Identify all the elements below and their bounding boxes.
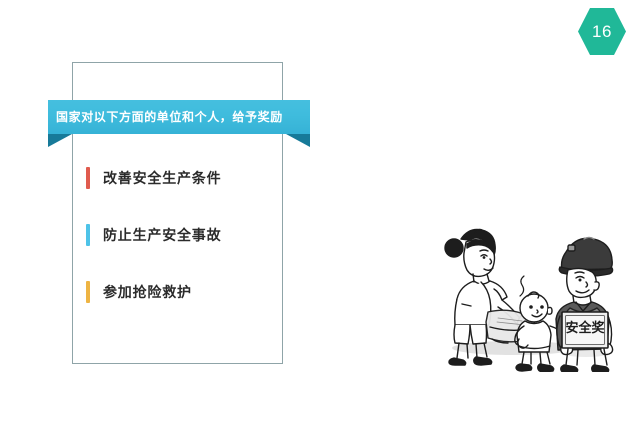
list-item: 参加抢险救护 — [86, 280, 286, 304]
ribbon-fold-right-icon — [286, 134, 310, 147]
list-item-label: 改善安全生产条件 — [103, 171, 221, 185]
ribbon-fold-left-icon — [48, 134, 72, 147]
page-number-badge: 16 — [578, 8, 626, 55]
page-number-text: 16 — [592, 23, 612, 40]
accent-bar-icon — [86, 281, 90, 303]
banner-ribbon: 国家对以下方面的单位和个人，给予奖励 — [48, 100, 310, 134]
sign-text: 安全奖 — [565, 320, 605, 336]
illustration-artwork: 安全奖 — [418, 212, 622, 372]
list-item: 改善安全生产条件 — [86, 166, 286, 190]
accent-bar-icon — [86, 167, 90, 189]
safety-award-illustration: 安全奖 — [418, 212, 622, 372]
accent-bar-icon — [86, 224, 90, 246]
banner-title: 国家对以下方面的单位和个人，给予奖励 — [48, 111, 283, 123]
list-item-label: 防止生产安全事故 — [103, 228, 221, 242]
list-item-label: 参加抢险救护 — [103, 285, 192, 299]
list-item: 防止生产安全事故 — [86, 223, 286, 247]
reward-list: 改善安全生产条件 防止生产安全事故 参加抢险救护 — [86, 166, 286, 304]
